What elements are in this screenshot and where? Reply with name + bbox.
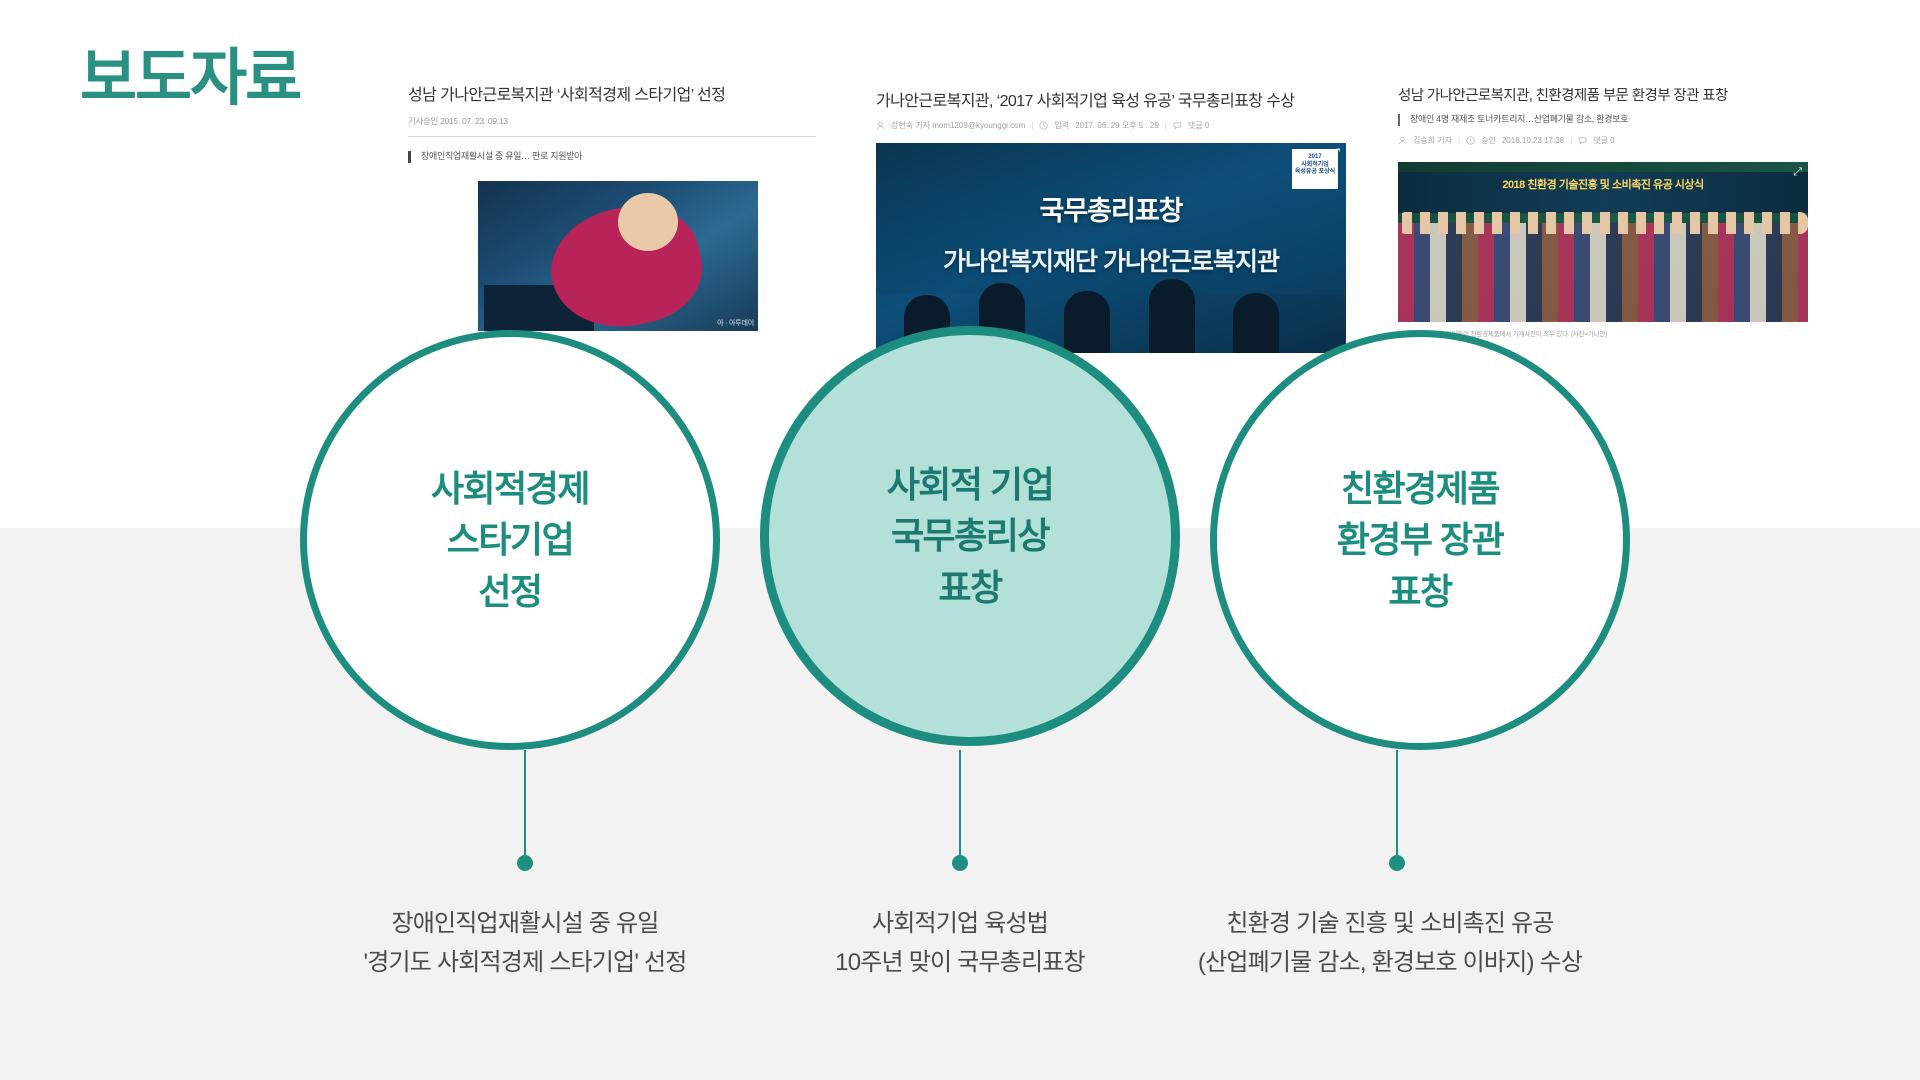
circle-item-1[interactable]: 사회적경제 스타기업 선정 [300, 330, 720, 750]
person-icon [1398, 136, 1407, 145]
clock-icon [1039, 121, 1048, 130]
photo-shape-head [618, 193, 678, 251]
caption-1: 장애인직업재활시설 중 유일 '경기도 사회적경제 스타기업' 선정 [295, 905, 755, 983]
comment-icon [1173, 121, 1182, 130]
page-title: 보도자료 [80, 48, 300, 110]
clipping-1-headline: 성남 가나안근로복지관 ‘사회적경제 스타기업’ 선정 [408, 86, 816, 105]
caption-3: 친환경 기술 진흥 및 소비촉진 유공 (산업폐기물 감소, 환경보호 이바지)… [1155, 905, 1625, 983]
comment-icon [1578, 136, 1587, 145]
clipping-1-byline: 기사승인 2015. 07. 23. 09:13 [408, 115, 816, 127]
clipping-1-photo: 아 · 아투데이 [478, 181, 758, 331]
clipping-2-photo: 국무총리표창 가나안복지재단 가나안근로복지관 2017 사회적기업 육성유공 … [876, 143, 1346, 353]
clipping-3-subhead: 장애인 4명 재제조 토너카트리지…산업폐기물 감소, 환경보호 [1398, 114, 1808, 126]
clipping-3-comment-count: 댓글 0 [1593, 135, 1614, 146]
clipping-3-photo-stage-text: 2018 친환경 기술진흥 및 소비촉진 유공 시상식 [1502, 176, 1703, 192]
photo-crowd-heads [1398, 212, 1808, 234]
meta-separator: | [1458, 136, 1460, 145]
expand-icon[interactable]: ⤢ [1331, 147, 1340, 160]
clipping-2-photo-line1: 국무총리표창 [1039, 189, 1182, 228]
clipping-2-photo-line2: 가나안복지재단 가나안근로복지관 [943, 242, 1279, 278]
photo-silhouette [1233, 293, 1279, 353]
meta-separator: | [1570, 136, 1572, 145]
clipping-3-approved-label: 승인 [1481, 135, 1496, 146]
connector-dot-2 [952, 855, 968, 871]
clipping-3-reporter: 김승희 기자 [1413, 135, 1452, 146]
clipping-2-reporter: 강현숙 기자 mom1209@kyounggi.com [891, 120, 1025, 131]
photo-silhouette [1149, 279, 1195, 353]
clock-icon [1466, 136, 1475, 145]
expand-icon[interactable]: ⤢ [1793, 166, 1802, 179]
connector-dot-3 [1389, 855, 1405, 871]
meta-separator: | [1031, 121, 1033, 130]
connector-line-1 [524, 750, 526, 860]
connector-line-2 [959, 750, 961, 860]
circle-item-3[interactable]: 친환경제품 환경부 장관 표창 [1210, 330, 1630, 750]
clipping-3-photo: 2018 친환경 기술진흥 및 소비촉진 유공 시상식 ⤢ [1398, 162, 1808, 322]
clipping-2-meta: 강현숙 기자 mom1209@kyounggi.com | 입력 2017. 0… [876, 120, 1346, 131]
circle-2-label: 사회적 기업 국무총리상 표창 [887, 459, 1054, 612]
caption-2: 사회적기업 육성법 10주년 맞이 국무총리표창 [735, 905, 1185, 983]
clipping-3-approved-date: 2018.10.23 17:38 [1502, 136, 1564, 145]
clipping-2-comment-count: 댓글 0 [1188, 120, 1209, 131]
photo-crowd [1398, 223, 1808, 322]
connector-line-3 [1396, 750, 1398, 860]
circle-1-label: 사회적경제 스타기업 선정 [431, 463, 589, 616]
meta-separator: | [1165, 121, 1167, 130]
divider [408, 136, 816, 137]
clipping-3-headline: 성남 가나안근로복지관, 친환경제품 부문 환경부 장관 표창 [1398, 88, 1808, 105]
circle-item-2[interactable]: 사회적 기업 국무총리상 표창 [760, 326, 1180, 746]
presentation-slide: 보도자료 성남 가나안근로복지관 ‘사회적경제 스타기업’ 선정 기사승인 20… [0, 0, 1920, 1080]
clipping-1-subhead: 장애인직업재활시설 중 유일… 판로 지원받아 [408, 151, 816, 163]
clipping-2-headline: 가나안근로복지관, ‘2017 사회적기업 육성 유공’ 국무총리표창 수상 [876, 92, 1346, 111]
clipping-2-input-date: 2017. 06. 29 오후 5 : 29 [1075, 120, 1159, 131]
clipping-2-input-label: 입력 [1054, 120, 1069, 131]
person-icon [876, 121, 885, 130]
clipping-3-meta: 김승희 기자 | 승인 2018.10.23 17:38 | 댓글 0 [1398, 135, 1808, 146]
photo-silhouette [1064, 291, 1110, 353]
clipping-1-photo-caption: 아 · 아투데이 [717, 318, 754, 328]
circle-3-label: 친환경제품 환경부 장관 표창 [1337, 463, 1504, 616]
connector-dot-1 [517, 855, 533, 871]
